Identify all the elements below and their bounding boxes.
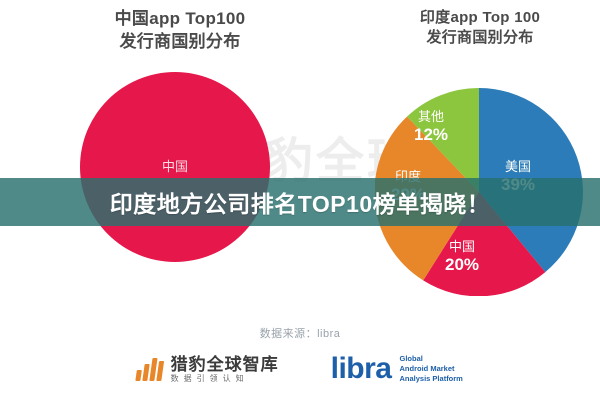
libra-logo: libra Global Android Market Analysis Pla… bbox=[331, 354, 463, 384]
left-pie-chart bbox=[80, 72, 270, 262]
headline-banner-text: 印度地方公司排名TOP10榜单揭晓！ bbox=[110, 185, 490, 219]
cheetah-bars-icon bbox=[135, 357, 164, 381]
libra-tagline-line2: Android Market bbox=[400, 364, 463, 374]
data-source-note: 数据来源：libra bbox=[0, 325, 600, 341]
libra-tagline-line3: Analysis Platform bbox=[400, 374, 463, 384]
right-chart-title-line2: 发行商国别分布 bbox=[370, 28, 590, 48]
footer-logos: 猎豹全球智库 数据引领认知 libra Global Android Marke… bbox=[0, 346, 600, 392]
cheetah-logo-main: 猎豹全球智库 bbox=[171, 355, 279, 375]
headline-banner: 印度地方公司排名TOP10榜单揭晓！ bbox=[0, 178, 600, 226]
right-chart-title-line1: 印度app Top 100 bbox=[370, 8, 590, 28]
right-chart-title: 印度app Top 100 发行商国别分布 bbox=[370, 8, 590, 49]
infographic-canvas: 中国app Top100 发行商国别分布 印度app Top 100 发行商国别… bbox=[0, 0, 600, 400]
left-chart-title-line2: 发行商国别分布 bbox=[80, 31, 280, 54]
libra-tagline-line1: Global bbox=[400, 354, 463, 364]
cheetah-logo-sub: 数据引领认知 bbox=[171, 374, 279, 383]
left-chart-title-line1: 中国app Top100 bbox=[80, 8, 280, 31]
cheetah-logo-words: 猎豹全球智库 数据引领认知 bbox=[171, 355, 279, 384]
libra-logo-tagline: Global Android Market Analysis Platform bbox=[400, 354, 463, 384]
left-chart-title: 中国app Top100 发行商国别分布 bbox=[80, 8, 280, 54]
cheetah-logo: 猎豹全球智库 数据引领认知 bbox=[137, 355, 279, 384]
libra-logo-word: libra bbox=[331, 354, 392, 384]
